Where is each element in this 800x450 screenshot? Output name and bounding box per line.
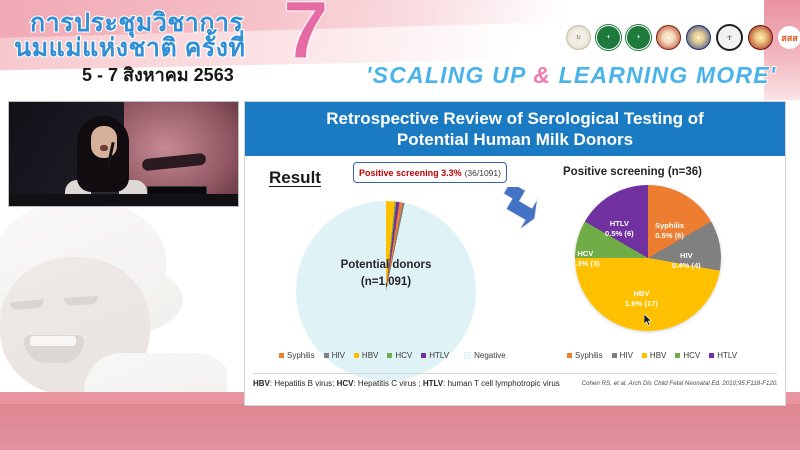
- right-chart-legend: Syphilis HIV HBV HCV HTLV: [567, 351, 737, 360]
- legend-item-hcv: HCV: [387, 351, 412, 360]
- legend-label-hcv: HCV: [395, 351, 412, 360]
- pie-label-hiv-name: HIV: [672, 251, 701, 261]
- slide-title-line1: Retrospective Review of Serological Test…: [326, 108, 704, 129]
- callout-main-text: Positive screening 3.3%: [359, 168, 462, 178]
- slide-title: Retrospective Review of Serological Test…: [245, 102, 785, 156]
- right-pie-title: Positive screening (n=36): [563, 166, 763, 178]
- legend-swatch-hiv: [324, 353, 329, 358]
- logo-department-health: ☥: [716, 24, 743, 51]
- slide-footer-divider: [253, 373, 777, 374]
- legend-label-hbv: HBV: [362, 351, 378, 360]
- pie-label-hiv-value: 0.4% (4): [672, 261, 701, 271]
- conference-edition-number: 7: [283, 0, 329, 72]
- pie-label-syphilis-name: Syphilis: [655, 221, 684, 231]
- pie-label-htlv-name: HTLV: [605, 219, 634, 229]
- footnote-abbr-hbv: HBV: [253, 379, 270, 388]
- baby-photo: [0, 205, 227, 395]
- legend-item-hbv: HBV: [354, 351, 378, 360]
- pie-label-syphilis: Syphilis 0.5% (6): [655, 221, 684, 242]
- slide-title-line2: Potential Human Milk Donors: [397, 129, 633, 150]
- legend-label-negative: Negative: [474, 351, 506, 360]
- stage-floor: [9, 194, 238, 206]
- legend-swatch-syphilis: [279, 353, 284, 358]
- legend-item-syphilis-right: Syphilis: [567, 351, 603, 360]
- podium: [59, 206, 167, 207]
- legend-label-hbv-right: HBV: [650, 351, 666, 360]
- pie-label-hcv-name: HCV: [571, 249, 600, 259]
- tagline-part2: LEARNING MORE': [551, 62, 776, 88]
- logo-thaihealth-sss: สสส: [778, 26, 800, 49]
- left-pie-center-label: Potential donors (n=1,091): [296, 257, 476, 290]
- speaker-video-thumbnail[interactable]: [8, 101, 239, 207]
- legend-label-syphilis: Syphilis: [287, 351, 315, 360]
- legend-label-hiv-right: HIV: [620, 351, 633, 360]
- legend-swatch-syphilis-right: [567, 353, 572, 358]
- legend-item-htlv-right: HTLV: [709, 351, 737, 360]
- legend-swatch-hbv: [354, 353, 359, 358]
- legend-label-syphilis-right: Syphilis: [575, 351, 603, 360]
- pie-label-hbv-value: 1.6% (17): [625, 299, 658, 309]
- logo-medical-council: ✦: [748, 25, 773, 50]
- slide-footnote: HBV: Hepatitis B virus; HCV: Hepatitis C…: [253, 379, 560, 388]
- speaker-mouth: [100, 145, 108, 151]
- logo-ministry-public-health-1: +: [596, 25, 621, 50]
- positive-screening-callout: Positive screening 3.3% (36/1091): [353, 162, 507, 183]
- slide-citation: Cohen RS, et al. Arch Dis Child Fetal Ne…: [582, 380, 778, 387]
- projected-baby-eye: [142, 153, 207, 172]
- logo-royal-college: ✦: [656, 25, 681, 50]
- legend-swatch-hcv: [387, 353, 392, 358]
- pie-label-hbv-name: HBV: [625, 289, 658, 299]
- footnote-abbr-hcv: HCV: [337, 379, 354, 388]
- legend-swatch-hiv-right: [612, 353, 617, 358]
- pie-label-htlv-value: 0.5% (6): [605, 229, 634, 239]
- footnote-text-2: : Hepatitis C virus ;: [353, 379, 422, 388]
- right-pie-chart: Syphilis 0.5% (6) HIV 0.4% (4) HBV 1.6% …: [575, 185, 721, 331]
- logo-thai-breastfeeding-foundation: ม: [566, 25, 591, 50]
- presentation-screen: การประชุมวิชาการ นมแม่แห่งชาติ ครั้งที่ …: [0, 0, 800, 450]
- pie-label-hiv: HIV 0.4% (4): [672, 251, 701, 272]
- left-pie-center-line1: Potential donors: [296, 257, 476, 274]
- left-chart-legend: Syphilis HIV HBV HCV HTLV Negative: [279, 351, 506, 360]
- sponsor-logos: ม + + ✦ ✦ ☥ ✦ สสส: [566, 24, 800, 51]
- result-heading: Result: [269, 168, 321, 188]
- callout-sub-text: (36/1091): [465, 168, 501, 178]
- pie-label-syphilis-value: 0.5% (6): [655, 231, 684, 241]
- legend-item-hiv-right: HIV: [612, 351, 633, 360]
- tagline-part1: 'SCALING UP: [366, 62, 533, 88]
- footer-pink-band-inner: [0, 404, 800, 450]
- pie-label-htlv: HTLV 0.5% (6): [605, 219, 634, 240]
- pie-label-hbv: HBV 1.6% (17): [625, 289, 658, 310]
- left-pie-center-line2: (n=1,091): [296, 274, 476, 291]
- presentation-slide: Retrospective Review of Serological Test…: [244, 101, 786, 406]
- pie-label-hcv: HCV 0.3% (3): [571, 249, 600, 270]
- mouse-cursor-icon: [644, 314, 653, 326]
- legend-label-htlv: HTLV: [429, 351, 449, 360]
- legend-swatch-hbv-right: [642, 353, 647, 358]
- blue-arrow-icon: [496, 187, 540, 229]
- legend-item-negative: Negative: [464, 351, 506, 360]
- pie-label-hcv-value: 0.3% (3): [571, 259, 600, 269]
- footnote-text-3: : human T cell lymphotropic virus: [443, 379, 560, 388]
- legend-swatch-htlv: [421, 353, 426, 358]
- legend-swatch-htlv-right: [709, 353, 714, 358]
- conference-tagline: 'SCALING UP & LEARNING MORE': [366, 62, 776, 89]
- legend-item-hiv: HIV: [324, 351, 345, 360]
- legend-label-hiv: HIV: [332, 351, 345, 360]
- baby-overlay-fade: [0, 205, 227, 395]
- legend-item-htlv: HTLV: [421, 351, 449, 360]
- legend-item-syphilis: Syphilis: [279, 351, 315, 360]
- legend-item-hbv-right: HBV: [642, 351, 666, 360]
- footnote-text-1: : Hepatitis B virus;: [270, 379, 337, 388]
- conference-date: 5 - 7 สิงหาคม 2563: [82, 60, 234, 89]
- footnote-abbr-htlv: HTLV: [423, 379, 443, 388]
- legend-label-hcv-right: HCV: [683, 351, 700, 360]
- legend-item-hcv-right: HCV: [675, 351, 700, 360]
- legend-label-htlv-right: HTLV: [717, 351, 737, 360]
- logo-royal-institute: ✦: [686, 25, 711, 50]
- legend-swatch-hcv-right: [675, 353, 680, 358]
- logo-ministry-public-health-2: +: [626, 25, 651, 50]
- tagline-ampersand: &: [533, 62, 551, 88]
- legend-swatch-negative: [464, 352, 471, 359]
